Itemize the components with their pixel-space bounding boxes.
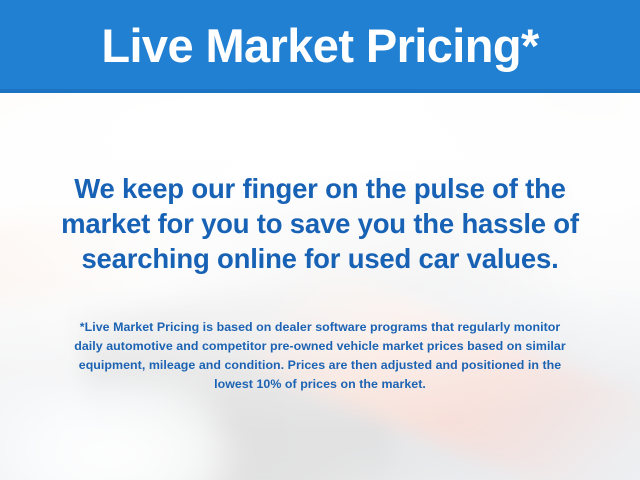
live-market-pricing-banner: Live Market Pricing* We keep our finger … [0, 0, 640, 480]
headline-text: We keep our finger on the pulse of the m… [20, 171, 620, 276]
header-band: Live Market Pricing* [0, 0, 640, 93]
fineprint-line-4: lowest 10% of prices on the market. [20, 375, 620, 394]
headline-line-2: market for you to save you the hassle of [20, 206, 620, 241]
headline-line-1: We keep our finger on the pulse of the [20, 171, 620, 206]
content-area: We keep our finger on the pulse of the m… [0, 93, 640, 480]
fineprint-line-3: equipment, mileage and condition. Prices… [20, 356, 620, 375]
fineprint-disclaimer: *Live Market Pricing is based on dealer … [20, 318, 620, 394]
fineprint-line-1: *Live Market Pricing is based on dealer … [20, 318, 620, 337]
fineprint-line-2: daily automotive and competitor pre-owne… [20, 337, 620, 356]
headline-line-3: searching online for used car values. [20, 241, 620, 276]
page-title: Live Market Pricing* [101, 22, 538, 69]
